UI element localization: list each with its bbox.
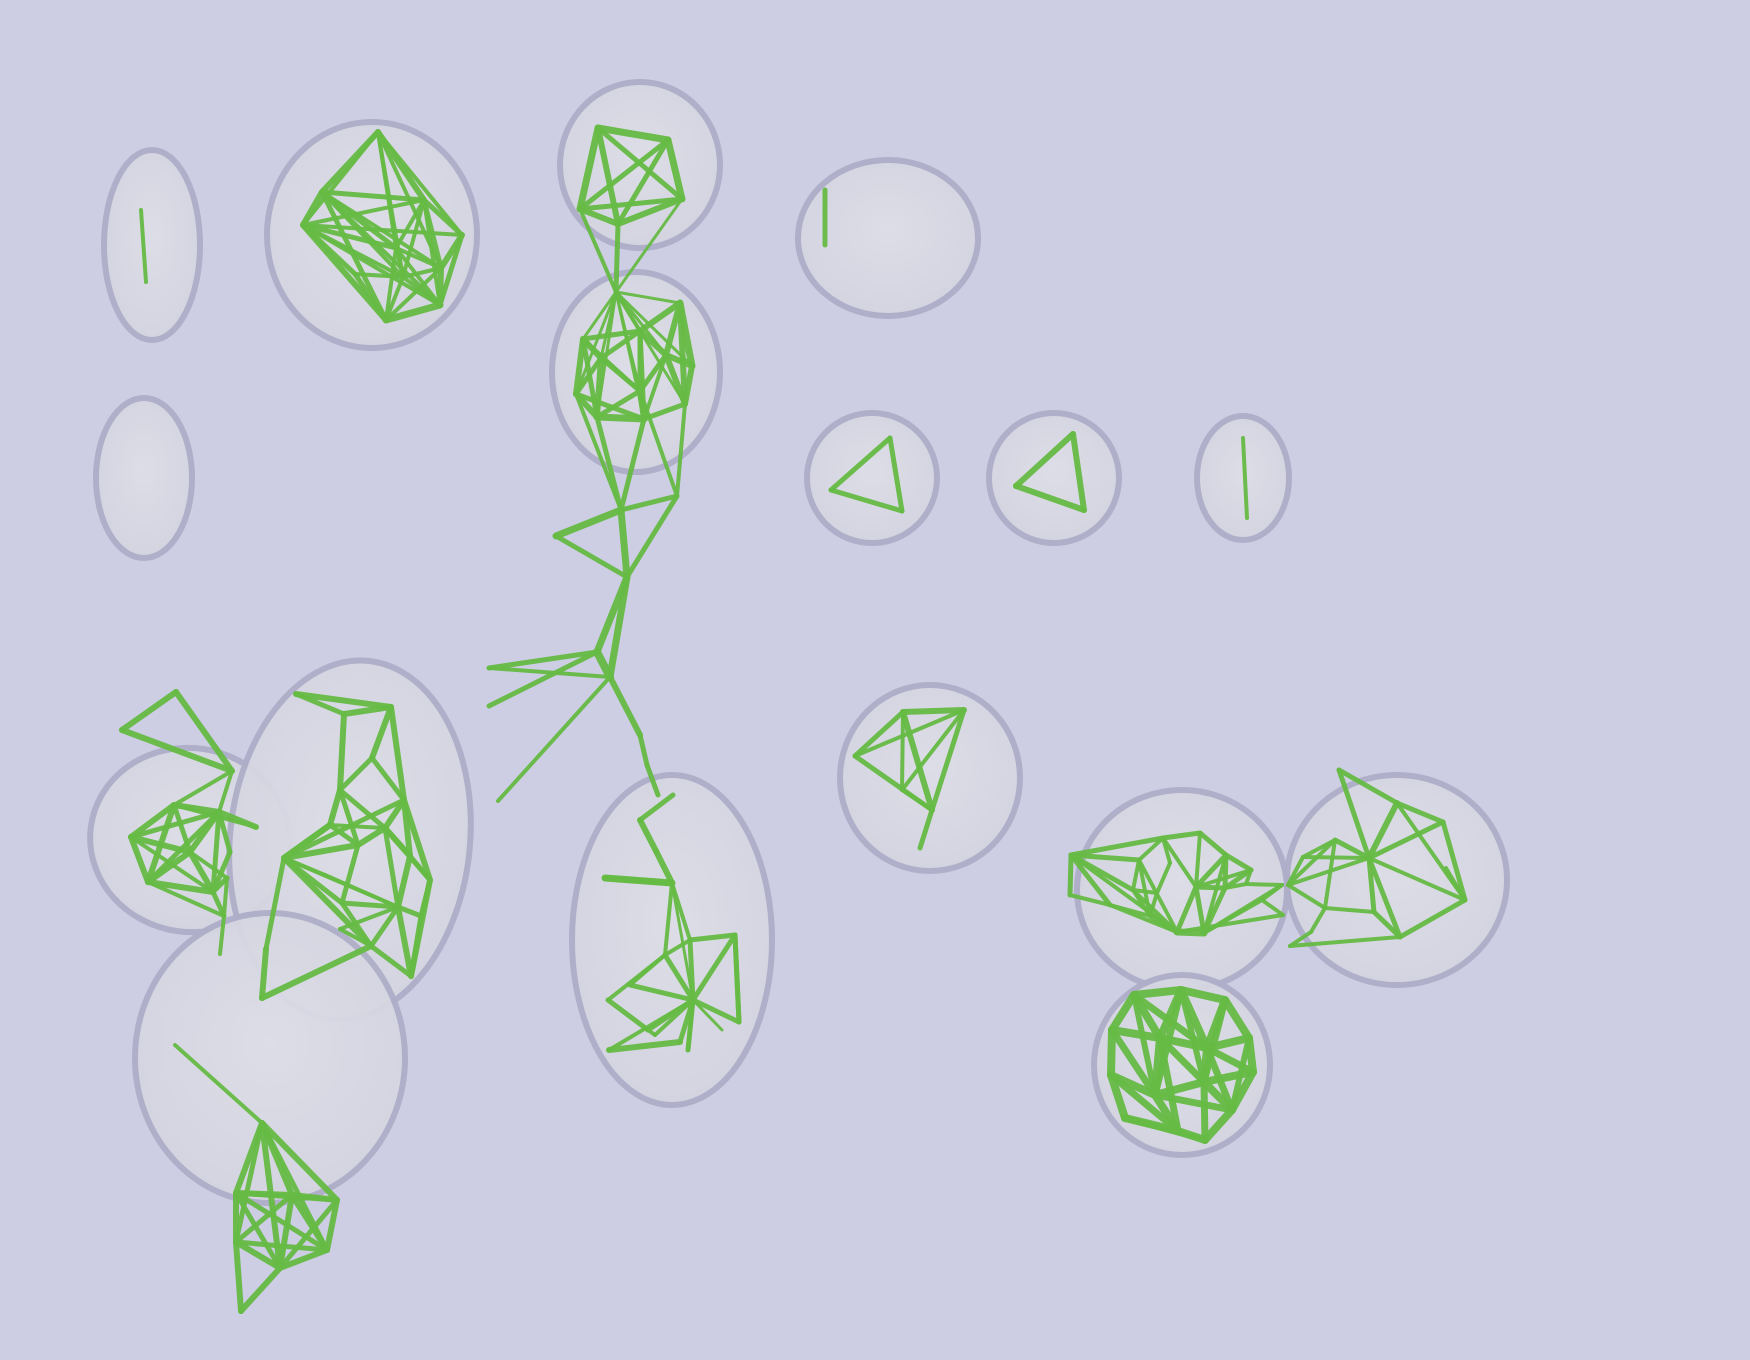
cluster-hull[interactable] xyxy=(807,413,937,543)
cluster-hull[interactable] xyxy=(104,150,200,340)
cluster-hull[interactable] xyxy=(135,913,405,1203)
network-diagram xyxy=(0,0,1750,1360)
cluster-hull[interactable] xyxy=(96,398,192,558)
network-edge xyxy=(1070,855,1071,895)
network-edge xyxy=(440,268,441,305)
network-edge xyxy=(616,224,618,292)
network-edge xyxy=(597,358,601,417)
network-edge xyxy=(1204,1082,1205,1140)
network-edge xyxy=(262,949,266,998)
figure-canvas xyxy=(0,0,1750,1360)
network-edge xyxy=(902,712,903,790)
cluster-hull[interactable] xyxy=(989,413,1119,543)
network-edge xyxy=(340,714,344,790)
network-edge xyxy=(1111,1030,1112,1075)
network-edge xyxy=(597,417,644,419)
network-edge xyxy=(1303,857,1369,858)
network-edge xyxy=(1246,884,1282,885)
network-edge xyxy=(1134,990,1181,995)
cluster-hull[interactable] xyxy=(572,775,772,1105)
cluster-hull[interactable] xyxy=(1077,790,1287,990)
